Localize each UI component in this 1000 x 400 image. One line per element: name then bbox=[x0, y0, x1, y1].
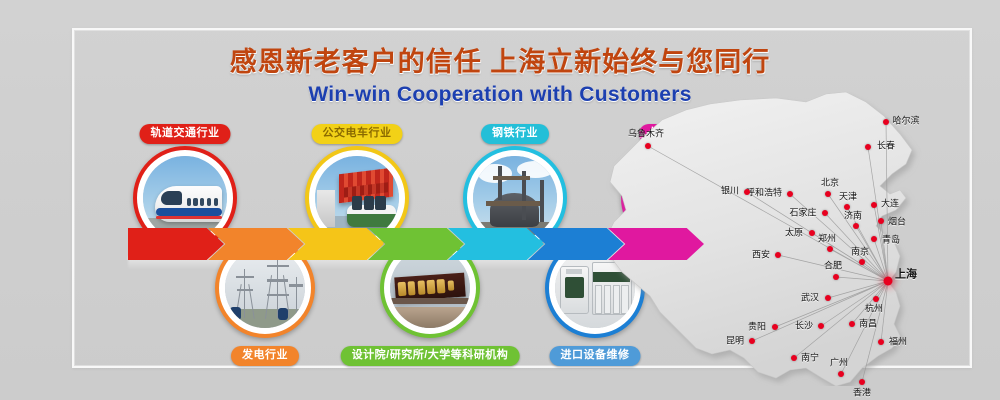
map-dot-烟台[interactable] bbox=[878, 218, 884, 224]
map-dot-南宁[interactable] bbox=[791, 355, 797, 361]
map-city-label-银川: 银川 bbox=[721, 187, 739, 196]
map-city-label-合肥: 合肥 bbox=[824, 262, 842, 271]
photo-blast-furnace bbox=[473, 156, 557, 240]
map-city-label-香港: 香港 bbox=[853, 389, 871, 398]
map-city-label-天津: 天津 bbox=[839, 193, 857, 202]
map-city-label-西安: 西安 bbox=[752, 251, 770, 260]
map-city-label-济南: 济南 bbox=[844, 212, 862, 221]
map-dot-长春[interactable] bbox=[865, 144, 871, 150]
industry-tag-power: 发电行业 bbox=[231, 346, 299, 366]
map-dot-石家庄[interactable] bbox=[822, 210, 828, 216]
map-dot-香港[interactable] bbox=[859, 379, 865, 385]
map-city-label-福州: 福州 bbox=[889, 338, 907, 347]
map-dot-杭州[interactable] bbox=[873, 296, 879, 302]
map-city-label-郑州: 郑州 bbox=[818, 235, 836, 244]
map-city-label-杭州: 杭州 bbox=[865, 305, 883, 314]
industry-tag-bus: 公交电车行业 bbox=[312, 124, 403, 144]
photo-high-speed-train bbox=[143, 156, 227, 240]
map-city-label-上海: 上海 bbox=[895, 270, 917, 281]
map-city-label-贵阳: 贵阳 bbox=[748, 323, 766, 332]
map-dot-南昌[interactable] bbox=[849, 321, 855, 327]
banner-root: 感恩新老客户的信任 上海立新始终与您同行 Win-win Cooperation… bbox=[0, 0, 1000, 400]
map-city-label-南宁: 南宁 bbox=[801, 354, 819, 363]
map-city-label-昆明: 昆明 bbox=[726, 337, 744, 346]
map-city-label-长沙: 长沙 bbox=[795, 322, 813, 331]
map-dot-大连[interactable] bbox=[871, 202, 877, 208]
map-dot-武汉[interactable] bbox=[825, 295, 831, 301]
map-city-label-石家庄: 石家庄 bbox=[789, 209, 816, 218]
map-dot-贵阳[interactable] bbox=[772, 324, 778, 330]
map-dot-呼和浩特[interactable] bbox=[787, 191, 793, 197]
map-city-label-呼和浩特: 呼和浩特 bbox=[746, 189, 782, 198]
map-city-label-烟台: 烟台 bbox=[888, 218, 906, 227]
map-city-label-南京: 南京 bbox=[851, 248, 869, 257]
map-dot-南京[interactable] bbox=[859, 259, 865, 265]
map-dot-济南[interactable] bbox=[853, 223, 859, 229]
photo-city-bus-expo-pavilion bbox=[315, 156, 399, 240]
map-city-label-青岛: 青岛 bbox=[882, 236, 900, 245]
ribbon-segment-rail bbox=[128, 228, 224, 260]
map-dot-福州[interactable] bbox=[878, 339, 884, 345]
map-city-label-北京: 北京 bbox=[821, 179, 839, 188]
map-city-label-乌鲁木齐: 乌鲁木齐 bbox=[628, 130, 664, 139]
map-city-label-大连: 大连 bbox=[881, 200, 899, 209]
map-dot-广州[interactable] bbox=[838, 371, 844, 377]
photo-power-transmission-towers bbox=[225, 248, 305, 328]
map-dot-银川[interactable] bbox=[744, 189, 750, 195]
industry-tag-research: 设计院/研究所/大学等科研机构 bbox=[341, 346, 520, 366]
map-city-label-哈尔滨: 哈尔滨 bbox=[892, 117, 919, 126]
headline-chinese: 感恩新老客户的信任 上海立新始终与您同行 bbox=[0, 48, 1000, 78]
map-dot-乌鲁木齐[interactable] bbox=[645, 143, 651, 149]
map-dot-郑州[interactable] bbox=[827, 246, 833, 252]
map-dot-天津[interactable] bbox=[844, 204, 850, 210]
map-dot-上海[interactable] bbox=[884, 277, 893, 286]
map-dot-西安[interactable] bbox=[775, 252, 781, 258]
map-dot-长沙[interactable] bbox=[818, 323, 824, 329]
map-dot-青岛[interactable] bbox=[871, 236, 877, 242]
industry-tag-steel: 钢铁行业 bbox=[481, 124, 549, 144]
map-city-label-长春: 长春 bbox=[877, 142, 895, 151]
map-dot-北京[interactable] bbox=[825, 191, 831, 197]
map-city-label-广州: 广州 bbox=[830, 359, 848, 368]
photo-university-entrance-sign bbox=[390, 248, 470, 328]
industry-tag-rail: 轨道交通行业 bbox=[140, 124, 231, 144]
map-city-label-武汉: 武汉 bbox=[801, 294, 819, 303]
map-dot-昆明[interactable] bbox=[749, 338, 755, 344]
map-city-label-太原: 太原 bbox=[785, 229, 803, 238]
map-dot-哈尔滨[interactable] bbox=[883, 119, 889, 125]
map-dot-合肥[interactable] bbox=[833, 274, 839, 280]
map-dot-太原[interactable] bbox=[809, 230, 815, 236]
map-city-label-南昌: 南昌 bbox=[859, 320, 877, 329]
